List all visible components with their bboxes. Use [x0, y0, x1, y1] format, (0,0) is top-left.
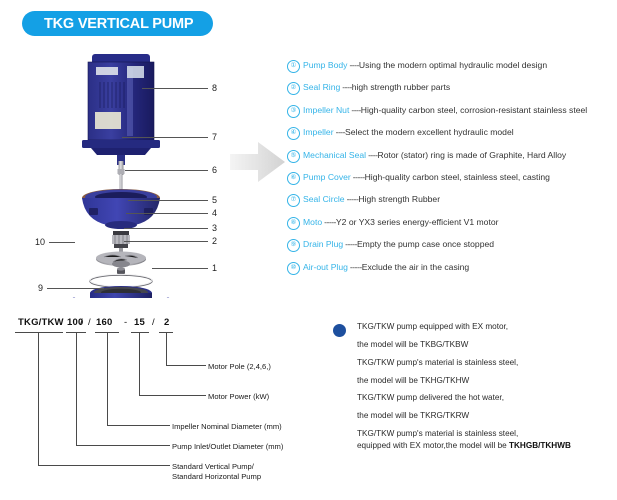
- note-text: equipped with EX motor,the model will be: [357, 441, 509, 450]
- note-line: the model will be TKHG/TKHW: [357, 376, 617, 386]
- legend-dash: -----: [350, 262, 362, 272]
- legend-description: Exclude the air in the casing: [362, 262, 470, 272]
- product-spec-page: TKG VERTICAL PUMP: [0, 0, 617, 500]
- code-separator: -: [124, 317, 127, 328]
- legend-dash: ----: [349, 60, 358, 70]
- note-line: TKG/TKW pump's material is stainless ste…: [357, 358, 617, 368]
- code-label-motor-power: Motor Power (kW): [208, 391, 269, 402]
- page-title: TKG VERTICAL PUMP: [22, 11, 213, 36]
- legend-part-name: Seal Ring: [303, 82, 340, 92]
- legend-item: ④ Impeller ---- Select the modern excell…: [287, 127, 617, 141]
- impeller-nut-part: [117, 267, 125, 274]
- shaft-part: [117, 155, 125, 190]
- legend-number-icon: ⑨: [287, 239, 300, 252]
- legend-dash: ----: [368, 150, 377, 160]
- code-token-series: TKG/TKW: [18, 317, 64, 328]
- legend-description: High strength Rubber: [358, 194, 440, 204]
- model-variant-notes: TKG/TKW pump equipped with EX motor, the…: [333, 322, 617, 459]
- legend-part-name: Pump Body: [303, 60, 347, 70]
- code-label-inlet-diameter: Pump Inlet/Outlet Diameter (mm): [172, 441, 283, 452]
- legend-item: ⑥ Pump Cover ----- High-quality carbon s…: [287, 172, 617, 186]
- mechanical-seal-part: [112, 231, 130, 248]
- pump-cover-part: [82, 189, 160, 229]
- model-code-breakdown: TKG/TKW / 100 160 / - 15 / 2 Motor Pole …: [0, 305, 340, 500]
- seal-ring-part: [90, 274, 152, 287]
- legend-number-icon: ②: [287, 82, 300, 95]
- legend-item: ② Seal Ring ---- high strength rubber pa…: [287, 82, 617, 96]
- legend-item: ③ Impeller Nut ---- High-quality carbon …: [287, 105, 617, 119]
- legend-dash: -----: [353, 172, 365, 182]
- legend-description: Y2 or YX3 series energy-efficient V1 mot…: [336, 217, 499, 227]
- legend-item: ⑩ Air-out Plug ----- Exclude the air in …: [287, 262, 617, 276]
- legend-dash: ----: [336, 127, 345, 137]
- pump-exploded-diagram: [55, 48, 200, 298]
- note-line-emphasis: equipped with EX motor,the model will be…: [357, 441, 617, 451]
- legend-number-icon: ③: [287, 105, 300, 118]
- legend-description: high strength rubber parts: [352, 82, 450, 92]
- legend-number-icon: ⑩: [287, 262, 300, 275]
- impeller-part: [96, 248, 146, 268]
- legend-dash: ----: [351, 105, 360, 115]
- note-line: the model will be TKBG/TKBW: [357, 340, 617, 350]
- legend-item: ⑨ Drain Plug ----- Empty the pump case o…: [287, 239, 617, 253]
- legend-item: ① Pump Body ---- Using the modern optima…: [287, 60, 617, 74]
- legend-item: ⑤ Mechanical Seal ---- Rotor (stator) ri…: [287, 150, 617, 164]
- legend-part-name: Air-out Plug: [303, 262, 348, 272]
- code-token-pole: 2: [164, 317, 169, 328]
- code-token-inlet: 100: [67, 317, 83, 328]
- parts-legend-list: ① Pump Body ---- Using the modern optima…: [287, 60, 617, 284]
- legend-item: ⑦ Seal Circle ----- High strength Rubber: [287, 194, 617, 208]
- legend-dash: ----: [342, 82, 351, 92]
- legend-description: Select the modern excellent hydraulic mo…: [345, 127, 514, 137]
- legend-description: Rotor (stator) ring is made of Graphite,…: [378, 150, 567, 160]
- code-label-impeller-diameter: Impeller Nominal Diameter (mm): [172, 421, 282, 432]
- legend-part-name: Drain Plug: [303, 239, 343, 249]
- legend-dash: -----: [345, 239, 357, 249]
- legend-number-icon: ⑧: [287, 217, 300, 230]
- code-token-power: 15: [134, 317, 145, 328]
- legend-number-icon: ①: [287, 60, 300, 73]
- legend-description: Using the modern optimal hydraulic model…: [359, 60, 547, 70]
- legend-part-name: Moto: [303, 217, 322, 227]
- legend-dash: -----: [347, 194, 359, 204]
- motor-part: [82, 54, 160, 155]
- code-label-motor-pole: Motor Pole (2,4,6,): [208, 361, 271, 372]
- code-token-impeller: 160: [96, 317, 112, 328]
- legend-description: High-quality carbon steel, corrosion-res…: [361, 105, 587, 115]
- note-line: TKG/TKW pump delivered the hot water,: [357, 393, 617, 403]
- legend-number-icon: ⑦: [287, 194, 300, 207]
- code-separator: /: [88, 317, 91, 328]
- legend-dash: -----: [324, 217, 336, 227]
- legend-part-name: Impeller Nut: [303, 105, 349, 115]
- legend-description: Empty the pump case once stopped: [357, 239, 494, 249]
- legend-part-name: Seal Circle: [303, 194, 345, 204]
- legend-number-icon: ⑥: [287, 172, 300, 185]
- bullet-icon: [333, 324, 346, 337]
- code-label-pump-type-line2: Standard Horizontal Pump: [172, 471, 261, 482]
- legend-description: High-quality carbon steel, stainless ste…: [365, 172, 550, 182]
- note-line: the model will be TKRG/TKRW: [357, 411, 617, 421]
- legend-part-name: Impeller: [303, 127, 334, 137]
- right-arrow-icon: [228, 138, 288, 186]
- legend-number-icon: ④: [287, 127, 300, 140]
- legend-part-name: Mechanical Seal: [303, 150, 366, 160]
- note-model-code: TKHGB/TKHWB: [509, 441, 571, 450]
- legend-item: ⑧ Moto ----- Y2 or YX3 series energy-eff…: [287, 217, 617, 231]
- page-title-text: TKG VERTICAL PUMP: [44, 16, 193, 32]
- note-line: TKG/TKW pump equipped with EX motor,: [357, 322, 617, 332]
- code-separator: /: [152, 317, 155, 328]
- note-line: TKG/TKW pump's material is stainless ste…: [357, 429, 617, 439]
- legend-part-name: Pump Cover: [303, 172, 351, 182]
- legend-number-icon: ⑤: [287, 150, 300, 163]
